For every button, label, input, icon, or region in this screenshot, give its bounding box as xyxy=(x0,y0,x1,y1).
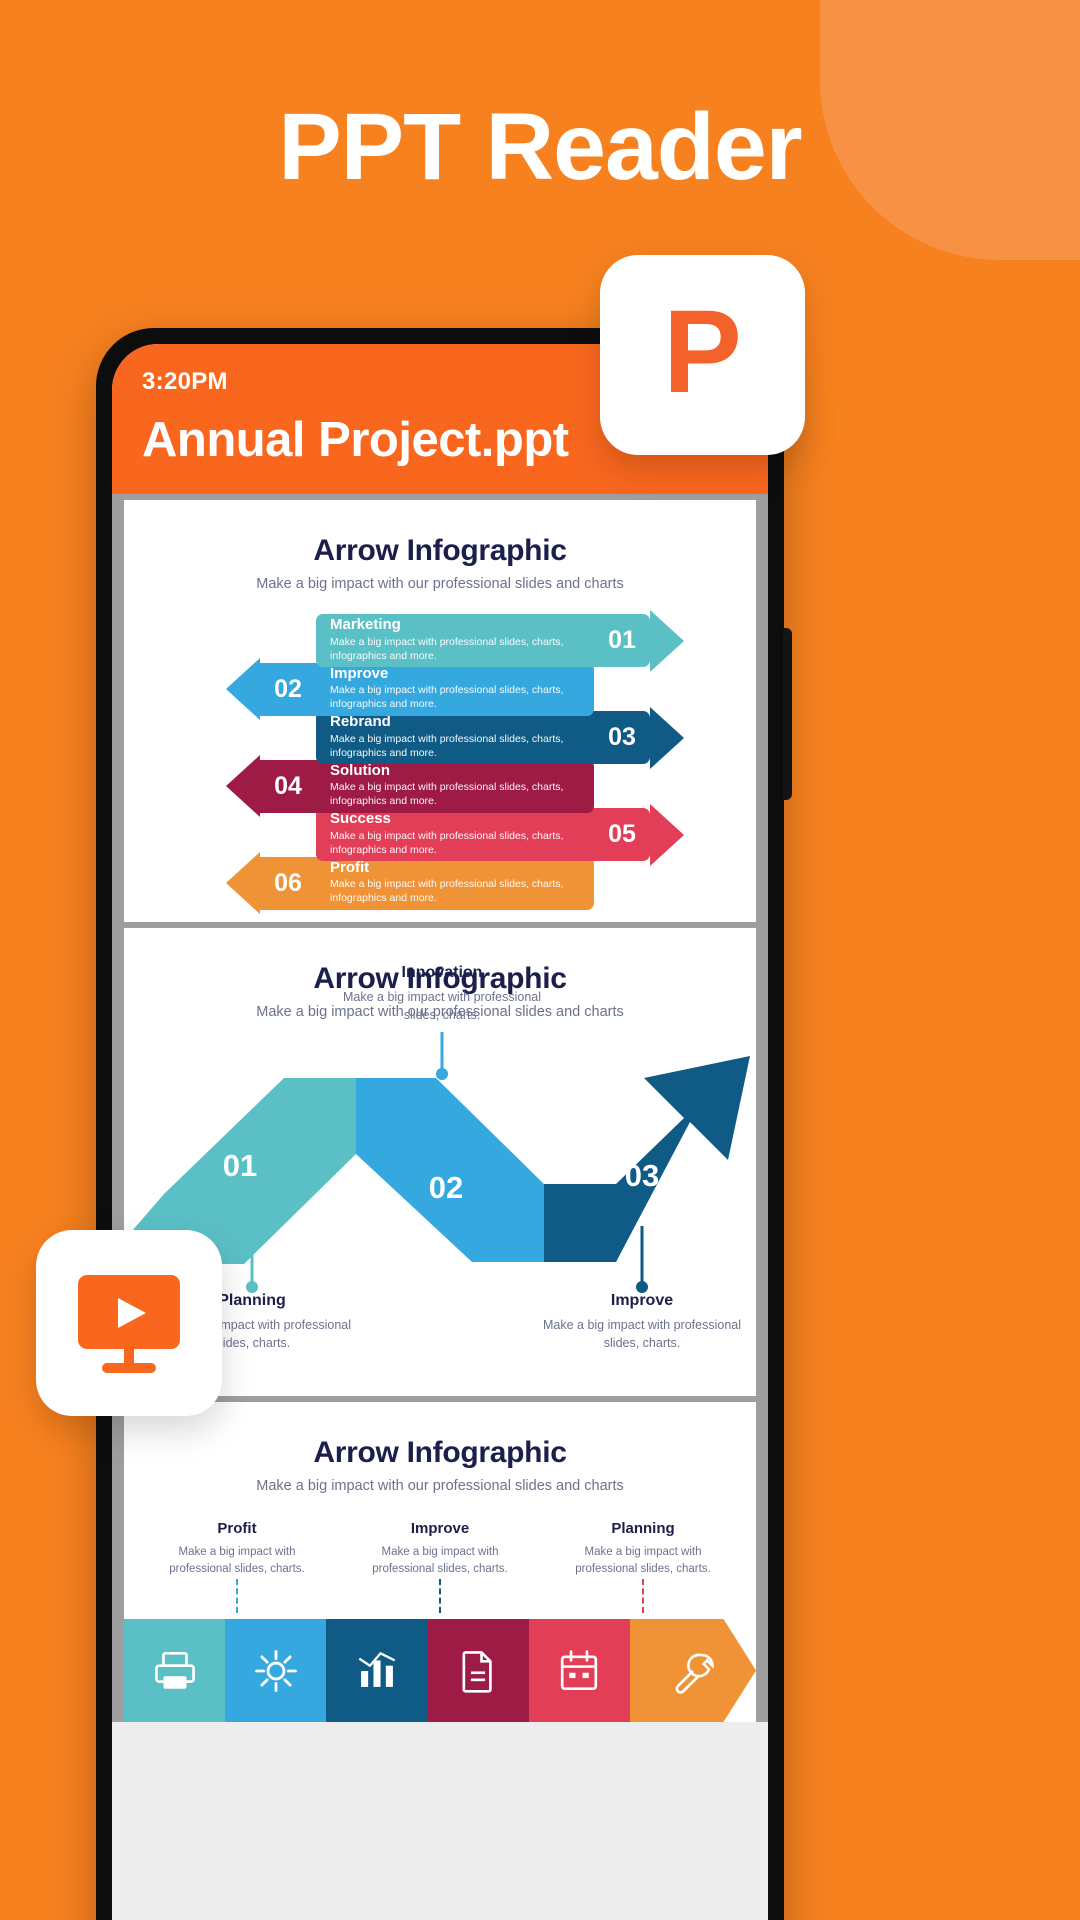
zigzag-number-02: 02 xyxy=(429,1170,463,1205)
presentation-play-badge xyxy=(36,1230,222,1416)
zigzag-number-03: 03 xyxy=(625,1158,659,1193)
connector-dot-02 xyxy=(436,1068,448,1080)
slide-1-subtitle: Make a big impact with our professional … xyxy=(124,576,756,592)
slide-3-icon-tiles xyxy=(124,1619,756,1723)
arrow-row-desc: Make a big impact with professional slid… xyxy=(330,830,580,858)
arrow-row-label: Solution xyxy=(330,763,580,780)
arrow-row[interactable]: 06ProfitMake a big impact with professio… xyxy=(226,857,594,910)
wrench-icon xyxy=(670,1648,716,1694)
bar-chart-icon xyxy=(354,1648,400,1694)
arrow-row-number: 06 xyxy=(260,857,316,910)
arrow-row-label: Marketing xyxy=(330,617,580,634)
arrow-row-desc: Make a big impact with professional slid… xyxy=(330,781,580,809)
phone-screen: 3:20PM Annual Project.ppt Arrow Infograp… xyxy=(112,344,768,1920)
phone-mockup: 3:20PM Annual Project.ppt Arrow Infograp… xyxy=(96,328,784,1920)
arrow-tip-left xyxy=(226,658,260,720)
zigzag-caption-02: Innovation Make a big impact with profes… xyxy=(342,964,542,1024)
slide-3-subtitle: Make a big impact with our professional … xyxy=(124,1478,756,1494)
arrow-row[interactable]: SuccessMake a big impact with profession… xyxy=(316,808,684,861)
phone-power-button xyxy=(783,628,792,800)
arrow-row-list: MarketingMake a big impact with professi… xyxy=(124,614,756,922)
arrow-row[interactable]: 04SolutionMake a big impact with profess… xyxy=(226,760,594,813)
dashed-connector-2 xyxy=(353,1579,527,1613)
ppt-badge-letter: P xyxy=(663,293,742,411)
arrow-row-label: Success xyxy=(330,811,580,828)
slide-3-caption-3: Planning Make a big impact with professi… xyxy=(556,1520,730,1579)
arrow-row-desc: Make a big impact with professional slid… xyxy=(330,636,580,664)
document-icon xyxy=(455,1648,501,1694)
zigzag-caption-03-label: Improve xyxy=(542,1292,742,1310)
slide-3-connector-row xyxy=(124,1579,756,1613)
zigzag-caption-03: Improve Make a big impact with professio… xyxy=(542,1292,742,1352)
slide-3-caption-2-desc: Make a big impact with professional slid… xyxy=(353,1544,527,1579)
calendar-icon xyxy=(556,1648,602,1694)
slide-3-caption-3-label: Planning xyxy=(556,1520,730,1537)
ppt-format-badge: P xyxy=(600,255,805,455)
arrow-row-number: 02 xyxy=(260,663,316,716)
zigzag-caption-03-desc: Make a big impact with professional slid… xyxy=(542,1316,742,1352)
arrow-row-label: Rebrand xyxy=(330,714,580,731)
arrow-row-desc: Make a big impact with professional slid… xyxy=(330,878,580,906)
zigzag-caption-02-label: Innovation xyxy=(342,964,542,982)
arrow-tip-left xyxy=(226,755,260,817)
arrow-tip-right xyxy=(650,804,684,866)
dashed-connector-1 xyxy=(150,1579,324,1613)
slide-1-title: Arrow Infographic xyxy=(124,534,756,568)
icon-tile-gear[interactable] xyxy=(225,1619,326,1723)
slide-3-caption-1: Profit Make a big impact with profession… xyxy=(150,1520,324,1579)
page-title: PPT Reader xyxy=(0,98,1080,198)
zigzag-caption-02-desc: Make a big impact with professional slid… xyxy=(342,988,542,1024)
arrow-row-number: 04 xyxy=(260,760,316,813)
slide-3-caption-1-label: Profit xyxy=(150,1520,324,1537)
slide-3-title: Arrow Infographic xyxy=(124,1436,756,1470)
slide-3-caption-1-desc: Make a big impact with professional slid… xyxy=(150,1544,324,1579)
dashed-connector-3 xyxy=(556,1579,730,1613)
slide-3-caption-2-label: Improve xyxy=(353,1520,527,1537)
slide-3[interactable]: Arrow Infographic Make a big impact with… xyxy=(124,1402,756,1722)
arrow-row-number: 05 xyxy=(594,808,650,861)
arrow-tip-right xyxy=(650,707,684,769)
arrow-row[interactable]: RebrandMake a big impact with profession… xyxy=(316,711,684,764)
slide-deck[interactable]: Arrow Infographic Make a big impact with… xyxy=(112,494,768,1722)
arrow-row-label: Profit xyxy=(330,860,580,877)
icon-tile-calendar[interactable] xyxy=(529,1619,630,1723)
arrow-row-label: Improve xyxy=(330,666,580,683)
icon-tile-document[interactable] xyxy=(427,1619,528,1723)
arrow-row-number: 03 xyxy=(594,711,650,764)
arrow-row[interactable]: 02ImproveMake a big impact with professi… xyxy=(226,663,594,716)
arrow-row[interactable]: MarketingMake a big impact with professi… xyxy=(316,614,684,667)
slide-1[interactable]: Arrow Infographic Make a big impact with… xyxy=(124,500,756,922)
slide-3-caption-row: Profit Make a big impact with profession… xyxy=(124,1494,756,1579)
icon-tile-printer[interactable] xyxy=(124,1619,225,1723)
arrow-tip-left xyxy=(226,852,260,914)
icon-tile-bar-chart[interactable] xyxy=(326,1619,427,1723)
gear-icon xyxy=(253,1648,299,1694)
printer-icon xyxy=(152,1648,198,1694)
slide-3-caption-2: Improve Make a big impact with professio… xyxy=(353,1520,527,1579)
arrow-tip-right xyxy=(650,610,684,672)
arrow-row-desc: Make a big impact with professional slid… xyxy=(330,684,580,712)
arrow-row-number: 01 xyxy=(594,614,650,667)
icon-tile-wrench[interactable] xyxy=(630,1619,756,1723)
slide-1-header: Arrow Infographic Make a big impact with… xyxy=(124,500,756,592)
slide-3-header: Arrow Infographic Make a big impact with… xyxy=(124,1402,756,1494)
zigzag-number-01: 01 xyxy=(223,1148,257,1183)
slide-3-caption-3-desc: Make a big impact with professional slid… xyxy=(556,1544,730,1579)
arrow-row-desc: Make a big impact with professional slid… xyxy=(330,733,580,761)
presentation-play-icon xyxy=(74,1271,184,1375)
